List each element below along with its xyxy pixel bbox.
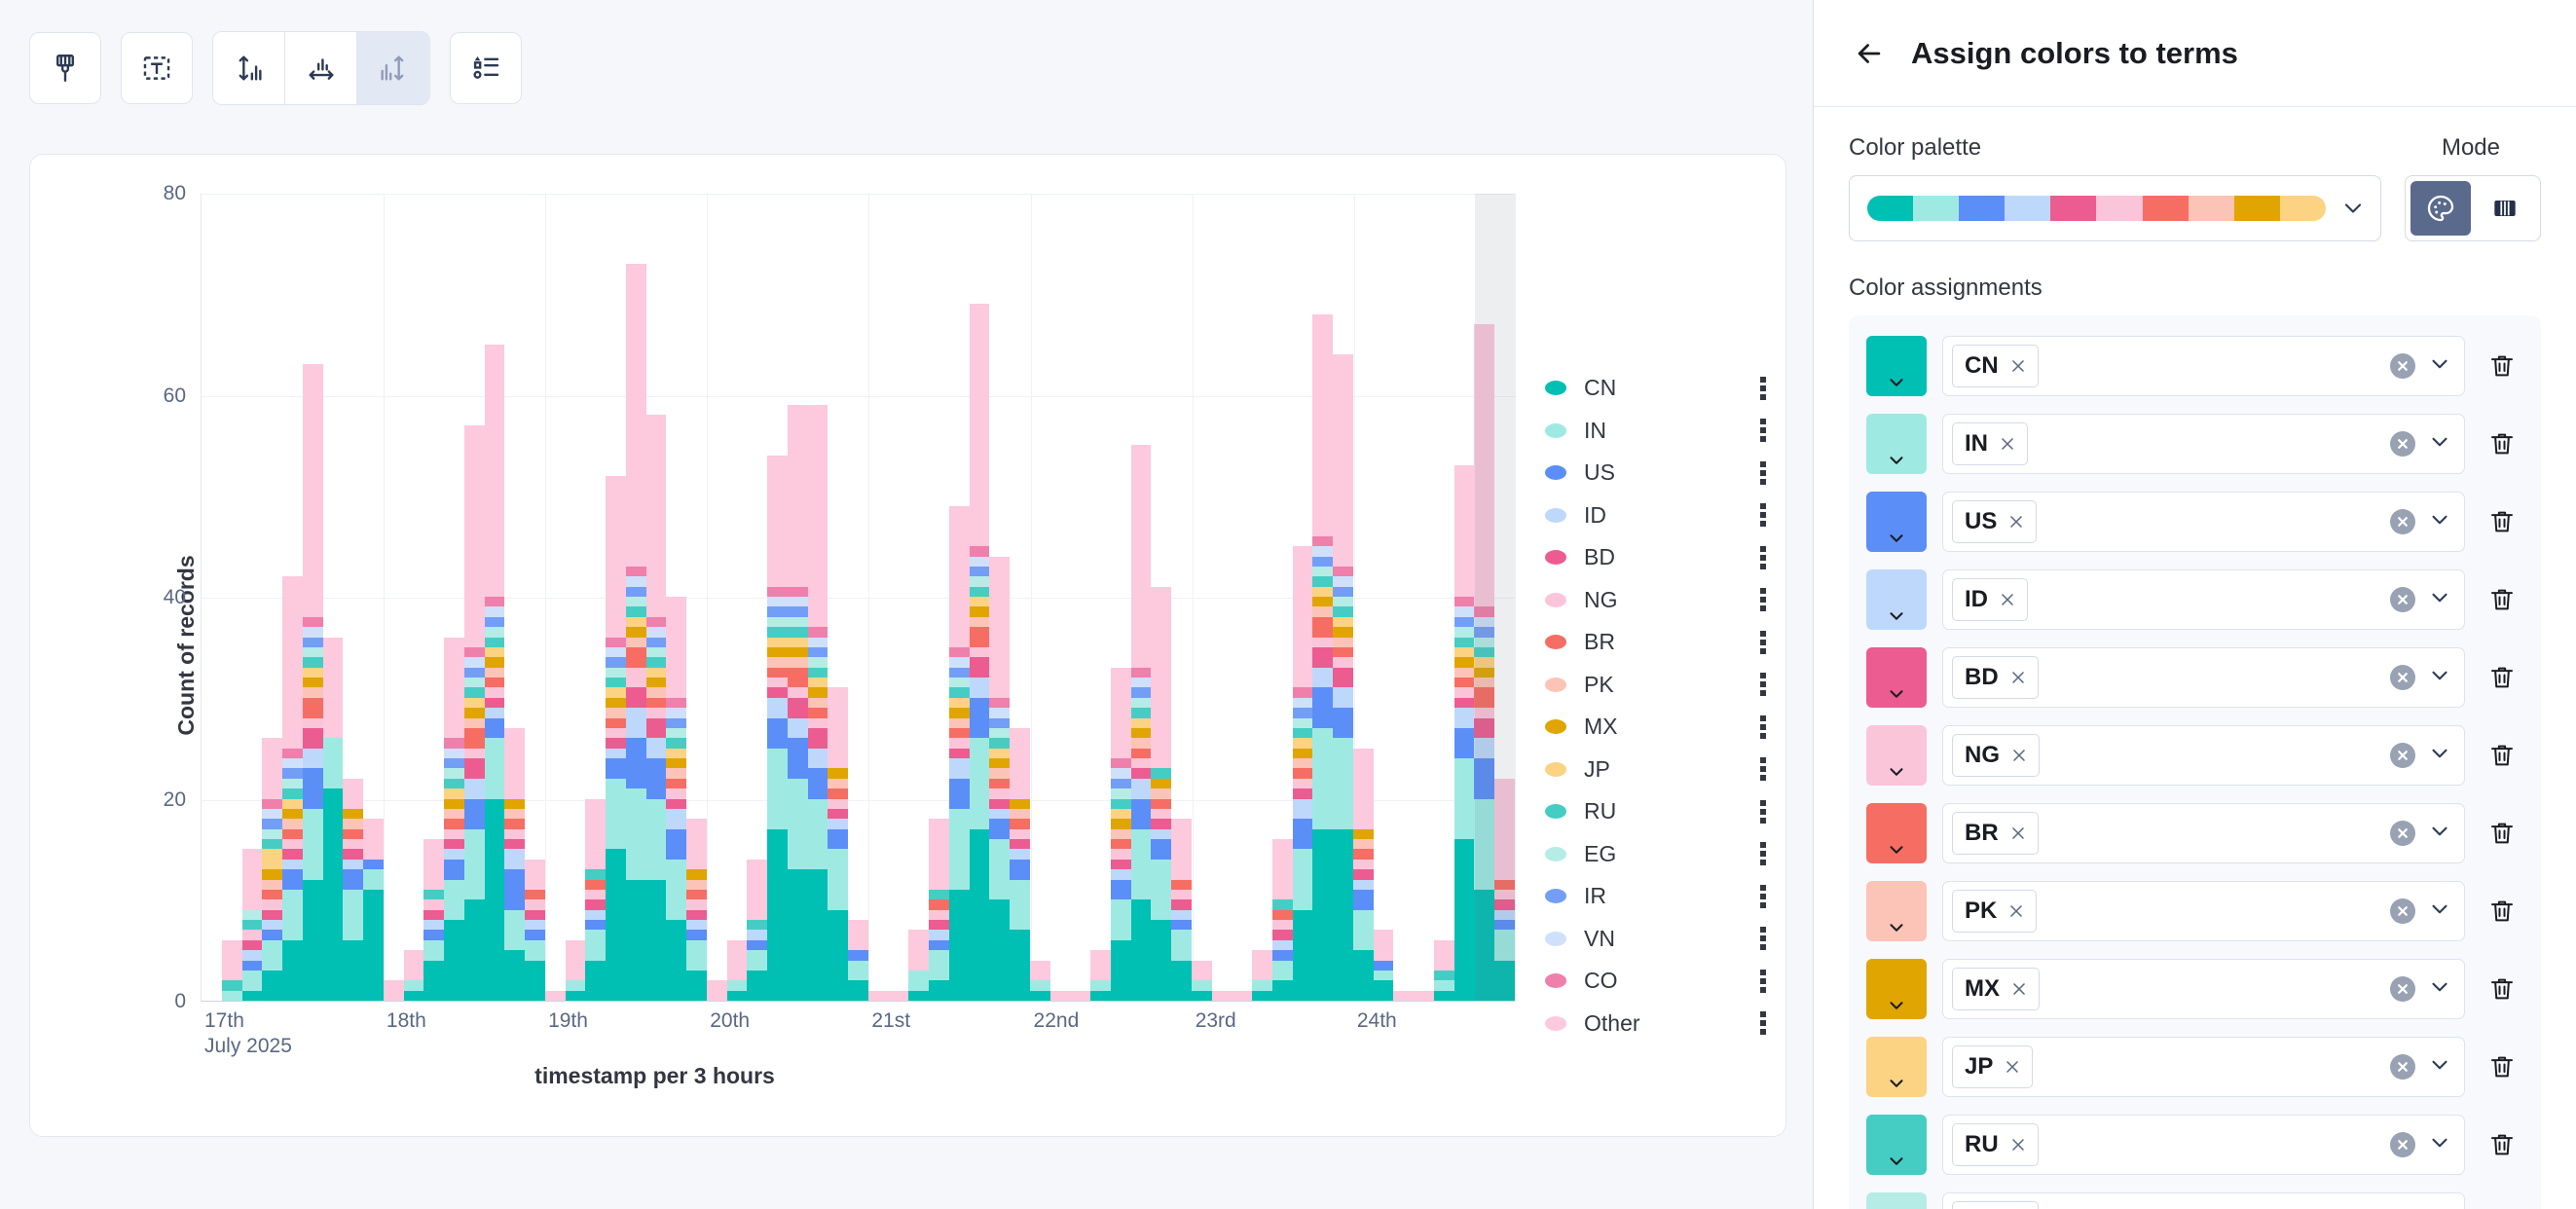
bar-segment[interactable] xyxy=(504,950,525,1001)
bar-segment[interactable] xyxy=(989,899,1010,1001)
bar-segment[interactable] xyxy=(626,576,646,586)
bar-segment[interactable] xyxy=(1312,687,1333,728)
drag-handle-icon[interactable] xyxy=(1757,673,1769,696)
bar-segment[interactable] xyxy=(767,829,788,1001)
bar-segment[interactable] xyxy=(1151,839,1171,860)
bar-segment[interactable] xyxy=(242,910,263,920)
bar-segment[interactable] xyxy=(262,819,282,828)
bar-segment[interactable] xyxy=(485,698,505,708)
bar-segment[interactable] xyxy=(1293,910,1313,1001)
bar-segment[interactable] xyxy=(1333,627,1353,637)
bar-segment[interactable] xyxy=(788,606,808,616)
arrow-left-icon[interactable] xyxy=(1849,33,1890,74)
bar-segment[interactable] xyxy=(989,749,1010,758)
bar-segment[interactable] xyxy=(970,606,990,616)
bar-column[interactable] xyxy=(1474,194,1494,1001)
bar-segment[interactable] xyxy=(808,638,828,647)
drag-handle-icon[interactable] xyxy=(1757,588,1769,611)
bar-segment[interactable] xyxy=(808,869,828,1001)
bar-segment[interactable] xyxy=(525,899,545,909)
bar-segment[interactable] xyxy=(1353,849,1374,859)
bar-segment[interactable] xyxy=(485,799,505,1002)
bar-segment[interactable] xyxy=(970,627,990,647)
bar-segment[interactable] xyxy=(1151,799,1171,809)
bar-segment[interactable] xyxy=(828,849,848,909)
bar-segment[interactable] xyxy=(1010,809,1030,819)
bar-segment[interactable] xyxy=(626,597,646,606)
drag-handle-icon[interactable] xyxy=(1757,377,1769,400)
drag-handle-icon[interactable] xyxy=(1757,800,1769,824)
bar-segment[interactable] xyxy=(666,779,686,788)
bar-column[interactable] xyxy=(1050,194,1071,1001)
bar-segment[interactable] xyxy=(464,678,485,687)
legend-item[interactable]: EG xyxy=(1545,833,1769,876)
bar-segment[interactable] xyxy=(1333,597,1353,606)
term-combobox[interactable]: NG xyxy=(1942,725,2465,786)
bar-segment[interactable] xyxy=(1353,839,1374,849)
bar-segment[interactable] xyxy=(989,768,1010,778)
bar-segment[interactable] xyxy=(626,647,646,668)
bar-segment[interactable] xyxy=(808,687,828,697)
bar-segment[interactable] xyxy=(949,657,970,667)
bar-segment[interactable] xyxy=(949,506,970,647)
bar-segment[interactable] xyxy=(1252,950,1272,980)
bar-segment[interactable] xyxy=(485,597,505,606)
bar-segment[interactable] xyxy=(222,980,242,990)
clear-circle-icon[interactable] xyxy=(2390,1132,2415,1157)
bar-segment[interactable] xyxy=(423,890,444,899)
bar-segment[interactable] xyxy=(1414,991,1434,1001)
bar-segment[interactable] xyxy=(848,950,868,960)
bar-segment[interactable] xyxy=(525,860,545,890)
bar-segment[interactable] xyxy=(1192,961,1212,981)
drag-handle-icon[interactable] xyxy=(1757,885,1769,908)
term-combobox[interactable]: US xyxy=(1942,492,2465,552)
bar-segment[interactable] xyxy=(1131,728,1152,738)
color-swatch-picker[interactable] xyxy=(1866,1192,1927,1209)
bar-segment[interactable] xyxy=(808,657,828,667)
drag-handle-icon[interactable] xyxy=(1757,503,1769,527)
bar-segment[interactable] xyxy=(626,606,646,616)
bar-segment[interactable] xyxy=(1474,647,1494,657)
bar-segment[interactable] xyxy=(1454,728,1475,758)
bar-column[interactable] xyxy=(767,194,788,1001)
bar-segment[interactable] xyxy=(970,587,990,597)
bar-segment[interactable] xyxy=(464,749,485,758)
bar-segment[interactable] xyxy=(1434,971,1454,980)
bar-segment[interactable] xyxy=(989,819,1010,839)
trash-icon[interactable] xyxy=(2481,1201,2523,1209)
bar-segment[interactable] xyxy=(1333,567,1353,576)
bar-segment[interactable] xyxy=(444,849,464,859)
bar-column[interactable] xyxy=(1192,194,1212,1001)
bar-column[interactable] xyxy=(1212,194,1233,1001)
bar-segment[interactable] xyxy=(282,839,303,849)
bar-segment[interactable] xyxy=(1312,606,1333,616)
bar-segment[interactable] xyxy=(788,718,808,739)
bar-segment[interactable] xyxy=(727,940,748,981)
bar-segment[interactable] xyxy=(585,899,606,909)
bar-segment[interactable] xyxy=(989,779,1010,788)
bar-segment[interactable] xyxy=(1272,950,1293,960)
trash-icon[interactable] xyxy=(2481,656,2523,699)
bar-segment[interactable] xyxy=(464,668,485,678)
bar-segment[interactable] xyxy=(1171,819,1192,879)
bar-segment[interactable] xyxy=(423,910,444,920)
bar-segment[interactable] xyxy=(646,627,667,637)
trash-icon[interactable] xyxy=(2481,500,2523,543)
bar-segment[interactable] xyxy=(949,738,970,748)
bar-segment[interactable] xyxy=(1454,687,1475,697)
bar-segment[interactable] xyxy=(1131,899,1152,1001)
bar-segment[interactable] xyxy=(1151,788,1171,798)
legend-item[interactable]: PK xyxy=(1545,664,1769,707)
palette-mode-button[interactable] xyxy=(2410,181,2471,236)
bar-segment[interactable] xyxy=(363,890,384,1001)
bar-segment[interactable] xyxy=(808,708,828,717)
bar-segment[interactable] xyxy=(585,920,606,930)
bar-segment[interactable] xyxy=(666,708,686,717)
clear-circle-icon[interactable] xyxy=(2390,431,2415,457)
horizontal-bar-axis-button[interactable] xyxy=(285,32,357,104)
chevron-down-icon[interactable] xyxy=(2427,741,2452,771)
bar-segment[interactable] xyxy=(808,728,828,749)
bar-segment[interactable] xyxy=(1454,657,1475,667)
clear-circle-icon[interactable] xyxy=(2390,821,2415,846)
bar-column[interactable] xyxy=(262,194,282,1001)
bar-segment[interactable] xyxy=(868,991,889,1001)
bar-segment[interactable] xyxy=(666,809,686,829)
bar-segment[interactable] xyxy=(1293,749,1313,758)
bar-column[interactable] xyxy=(585,194,606,1001)
bar-segment[interactable] xyxy=(788,779,808,869)
bar-column[interactable] xyxy=(788,194,808,1001)
color-swatch-picker[interactable] xyxy=(1866,725,1927,786)
bar-segment[interactable] xyxy=(626,627,646,637)
bar-segment[interactable] xyxy=(1171,880,1192,890)
bar-segment[interactable] xyxy=(767,647,788,657)
bar-segment[interactable] xyxy=(1010,799,1030,809)
bar-segment[interactable] xyxy=(788,698,808,718)
bar-segment[interactable] xyxy=(1474,638,1494,647)
clear-circle-icon[interactable] xyxy=(2390,898,2415,924)
bar-segment[interactable] xyxy=(303,718,323,728)
bar-segment[interactable] xyxy=(666,860,686,920)
bar-segment[interactable] xyxy=(1171,930,1192,960)
bar-segment[interactable] xyxy=(808,749,828,769)
close-x-icon[interactable] xyxy=(2009,979,2029,999)
bar-segment[interactable] xyxy=(282,758,303,768)
bar-segment[interactable] xyxy=(1454,627,1475,637)
bar-column[interactable] xyxy=(929,194,949,1001)
bar-segment[interactable] xyxy=(343,829,363,839)
bar-segment[interactable] xyxy=(1192,991,1212,1001)
bar-segment[interactable] xyxy=(646,415,667,617)
bar-segment[interactable] xyxy=(767,718,788,749)
bar-segment[interactable] xyxy=(1333,647,1353,657)
bar-segment[interactable] xyxy=(1171,961,1192,1002)
bar-segment[interactable] xyxy=(1151,860,1171,920)
bar-segment[interactable] xyxy=(1010,839,1030,849)
bar-segment[interactable] xyxy=(929,920,949,930)
bar-segment[interactable] xyxy=(970,678,990,698)
close-x-icon[interactable] xyxy=(2008,824,2028,843)
bar-segment[interactable] xyxy=(1454,839,1475,1001)
bar-segment[interactable] xyxy=(1272,961,1293,981)
bar-segment[interactable] xyxy=(606,647,626,657)
chevron-down-icon[interactable] xyxy=(2427,663,2452,693)
bar-segment[interactable] xyxy=(970,304,990,546)
bar-segment[interactable] xyxy=(282,749,303,758)
bar-segment[interactable] xyxy=(686,971,707,1001)
bar-segment[interactable] xyxy=(1131,779,1152,799)
bar-segment[interactable] xyxy=(606,758,626,779)
bar-segment[interactable] xyxy=(444,738,464,748)
bar-segment[interactable] xyxy=(1312,617,1333,638)
bar-segment[interactable] xyxy=(545,991,566,1001)
bar-segment[interactable] xyxy=(282,799,303,809)
bar-segment[interactable] xyxy=(1131,799,1152,829)
bar-segment[interactable] xyxy=(1131,668,1152,678)
bar-segment[interactable] xyxy=(828,768,848,778)
bar-segment[interactable] xyxy=(485,668,505,678)
bar-segment[interactable] xyxy=(303,647,323,657)
bar-column[interactable] xyxy=(1070,194,1090,1001)
bar-segment[interactable] xyxy=(343,849,363,859)
bar-column[interactable] xyxy=(1232,194,1252,1001)
bar-segment[interactable] xyxy=(747,950,767,971)
clear-circle-icon[interactable] xyxy=(2390,1054,2415,1080)
bar-segment[interactable] xyxy=(1474,799,1494,890)
bar-segment[interactable] xyxy=(1374,930,1394,960)
bar-segment[interactable] xyxy=(1272,930,1293,939)
bar-segment[interactable] xyxy=(1111,940,1131,1001)
bar-segment[interactable] xyxy=(1312,314,1333,536)
bar-segment[interactable] xyxy=(1293,718,1313,728)
bar-segment[interactable] xyxy=(1010,860,1030,880)
bar-column[interactable] xyxy=(1272,194,1293,1001)
bar-segment[interactable] xyxy=(1434,980,1454,990)
bar-segment[interactable] xyxy=(949,728,970,738)
bar-segment[interactable] xyxy=(686,890,707,899)
bar-segment[interactable] xyxy=(262,869,282,879)
bar-column[interactable] xyxy=(222,194,242,1001)
bar-segment[interactable] xyxy=(1353,829,1374,839)
bar-segment[interactable] xyxy=(1131,749,1152,758)
bar-segment[interactable] xyxy=(1474,668,1494,678)
bar-segment[interactable] xyxy=(1374,971,1394,980)
color-swatch-picker[interactable] xyxy=(1866,569,1927,630)
bar-segment[interactable] xyxy=(989,698,1010,708)
bar-segment[interactable] xyxy=(606,708,626,717)
bar-segment[interactable] xyxy=(525,920,545,930)
drag-handle-icon[interactable] xyxy=(1757,461,1769,485)
color-swatch-picker[interactable] xyxy=(1866,1037,1927,1097)
bar-segment[interactable] xyxy=(485,687,505,697)
bar-segment[interactable] xyxy=(1293,546,1313,687)
bar-segment[interactable] xyxy=(282,849,303,859)
bar-segment[interactable] xyxy=(1212,991,1233,1001)
bar-column[interactable] xyxy=(1090,194,1111,1001)
bar-segment[interactable] xyxy=(1030,980,1050,990)
bar-segment[interactable] xyxy=(1293,768,1313,778)
bar-segment[interactable] xyxy=(485,678,505,687)
bar-segment[interactable] xyxy=(788,627,808,637)
bar-column[interactable] xyxy=(949,194,970,1001)
bar-segment[interactable] xyxy=(1353,950,1374,1001)
color-swatch-picker[interactable] xyxy=(1866,336,1927,396)
bar-segment[interactable] xyxy=(626,567,646,576)
bar-segment[interactable] xyxy=(1111,860,1131,869)
bar-segment[interactable] xyxy=(686,869,707,879)
bar-segment[interactable] xyxy=(485,606,505,616)
bar-segment[interactable] xyxy=(282,890,303,940)
bar-segment[interactable] xyxy=(1293,738,1313,748)
bar-segment[interactable] xyxy=(949,758,970,779)
bar-segment[interactable] xyxy=(303,809,323,880)
close-x-icon[interactable] xyxy=(2008,668,2028,687)
bar-segment[interactable] xyxy=(585,799,606,870)
bar-segment[interactable] xyxy=(808,718,828,728)
bar-segment[interactable] xyxy=(646,880,667,1002)
bar-segment[interactable] xyxy=(828,779,848,788)
bar-segment[interactable] xyxy=(646,647,667,657)
chevron-down-icon[interactable] xyxy=(2427,585,2452,615)
bar-segment[interactable] xyxy=(464,708,485,717)
bar-segment[interactable] xyxy=(1333,576,1353,586)
bar-segment[interactable] xyxy=(262,809,282,819)
bar-segment[interactable] xyxy=(646,657,667,667)
bar-segment[interactable] xyxy=(626,638,646,647)
bar-segment[interactable] xyxy=(1293,687,1313,697)
bar-segment[interactable] xyxy=(929,890,949,899)
bar-segment[interactable] xyxy=(444,920,464,1001)
bar-segment[interactable] xyxy=(949,890,970,1001)
color-swatch-picker[interactable] xyxy=(1866,492,1927,552)
bar-segment[interactable] xyxy=(1111,849,1131,859)
bar-segment[interactable] xyxy=(646,799,667,880)
bar-segment[interactable] xyxy=(606,698,626,708)
drag-handle-icon[interactable] xyxy=(1757,715,1769,739)
bar-segment[interactable] xyxy=(525,940,545,961)
bar-segment[interactable] xyxy=(423,839,444,890)
bar-segment[interactable] xyxy=(949,779,970,809)
bar-segment[interactable] xyxy=(262,839,282,849)
bar-segment[interactable] xyxy=(585,930,606,960)
bar-segment[interactable] xyxy=(504,809,525,819)
bar-segment[interactable] xyxy=(343,869,363,890)
bar-segment[interactable] xyxy=(606,728,626,738)
bar-segment[interactable] xyxy=(1111,899,1131,940)
bar-segment[interactable] xyxy=(788,638,808,647)
bar-segment[interactable] xyxy=(767,657,788,667)
bar-segment[interactable] xyxy=(828,687,848,768)
bar-segment[interactable] xyxy=(1474,708,1494,717)
term-combobox[interactable]: JP xyxy=(1942,1037,2465,1097)
bar-segment[interactable] xyxy=(1293,708,1313,717)
bar-segment[interactable] xyxy=(262,971,282,1001)
bar-segment[interactable] xyxy=(788,869,808,1001)
bar-segment[interactable] xyxy=(1333,638,1353,647)
bar-segment[interactable] xyxy=(303,657,323,667)
bar-column[interactable] xyxy=(485,194,505,1001)
bar-column[interactable] xyxy=(1454,194,1475,1001)
bar-segment[interactable] xyxy=(606,668,626,678)
bar-segment[interactable] xyxy=(444,749,464,758)
bar-segment[interactable] xyxy=(1312,546,1333,556)
bar-segment[interactable] xyxy=(1312,567,1333,576)
bar-column[interactable] xyxy=(970,194,990,1001)
bar-segment[interactable] xyxy=(1312,587,1333,597)
bar-segment[interactable] xyxy=(949,668,970,678)
bar-segment[interactable] xyxy=(303,768,323,809)
bar-segment[interactable] xyxy=(423,920,444,930)
bar-segment[interactable] xyxy=(444,860,464,880)
term-combobox[interactable]: CN xyxy=(1942,336,2465,396)
bar-segment[interactable] xyxy=(626,788,646,879)
bar-segment[interactable] xyxy=(1272,940,1293,950)
bar-column[interactable] xyxy=(1494,194,1515,1001)
bar-segment[interactable] xyxy=(646,687,667,697)
bar-segment[interactable] xyxy=(1454,758,1475,839)
bar-column[interactable] xyxy=(889,194,909,1001)
bar-segment[interactable] xyxy=(929,899,949,909)
bar-segment[interactable] xyxy=(1131,718,1152,728)
bar-segment[interactable] xyxy=(646,718,667,739)
bar-segment[interactable] xyxy=(444,809,464,819)
bar-segment[interactable] xyxy=(343,839,363,849)
clear-circle-icon[interactable] xyxy=(2390,976,2415,1002)
bar-segment[interactable] xyxy=(989,728,1010,738)
bar-column[interactable] xyxy=(1293,194,1313,1001)
bar-segment[interactable] xyxy=(1111,779,1131,788)
bar-segment[interactable] xyxy=(1333,738,1353,828)
bar-segment[interactable] xyxy=(767,456,788,587)
bar-segment[interactable] xyxy=(646,698,667,708)
bar-segment[interactable] xyxy=(1454,597,1475,606)
bar-column[interactable] xyxy=(1414,194,1434,1001)
bar-segment[interactable] xyxy=(485,708,505,717)
bar-segment[interactable] xyxy=(1333,587,1353,597)
bar-segment[interactable] xyxy=(303,678,323,687)
bar-segment[interactable] xyxy=(262,880,282,890)
bar-segment[interactable] xyxy=(1494,880,1515,890)
chevron-down-icon[interactable] xyxy=(2427,819,2452,849)
bar-segment[interactable] xyxy=(444,799,464,809)
drag-handle-icon[interactable] xyxy=(1757,842,1769,865)
bar-segment[interactable] xyxy=(1272,910,1293,920)
bar-segment[interactable] xyxy=(464,758,485,779)
legend-options-button[interactable] xyxy=(450,32,522,104)
close-x-icon[interactable] xyxy=(2008,356,2028,376)
close-x-icon[interactable] xyxy=(1998,590,2017,609)
bar-segment[interactable] xyxy=(282,819,303,828)
term-combobox[interactable]: PK xyxy=(1942,881,2465,941)
bar-segment[interactable] xyxy=(666,788,686,798)
bar-segment[interactable] xyxy=(1111,819,1131,828)
bar-segment[interactable] xyxy=(949,647,970,657)
drag-handle-icon[interactable] xyxy=(1757,927,1769,950)
bar-segment[interactable] xyxy=(1293,758,1313,768)
style-paintbrush-button[interactable] xyxy=(29,32,101,104)
bar-segment[interactable] xyxy=(464,718,485,728)
bar-segment[interactable] xyxy=(464,687,485,697)
bar-segment[interactable] xyxy=(262,930,282,939)
bar-segment[interactable] xyxy=(282,779,303,788)
term-combobox[interactable]: MX xyxy=(1942,959,2465,1019)
bar-segment[interactable] xyxy=(282,940,303,1001)
bar-segment[interactable] xyxy=(666,749,686,758)
